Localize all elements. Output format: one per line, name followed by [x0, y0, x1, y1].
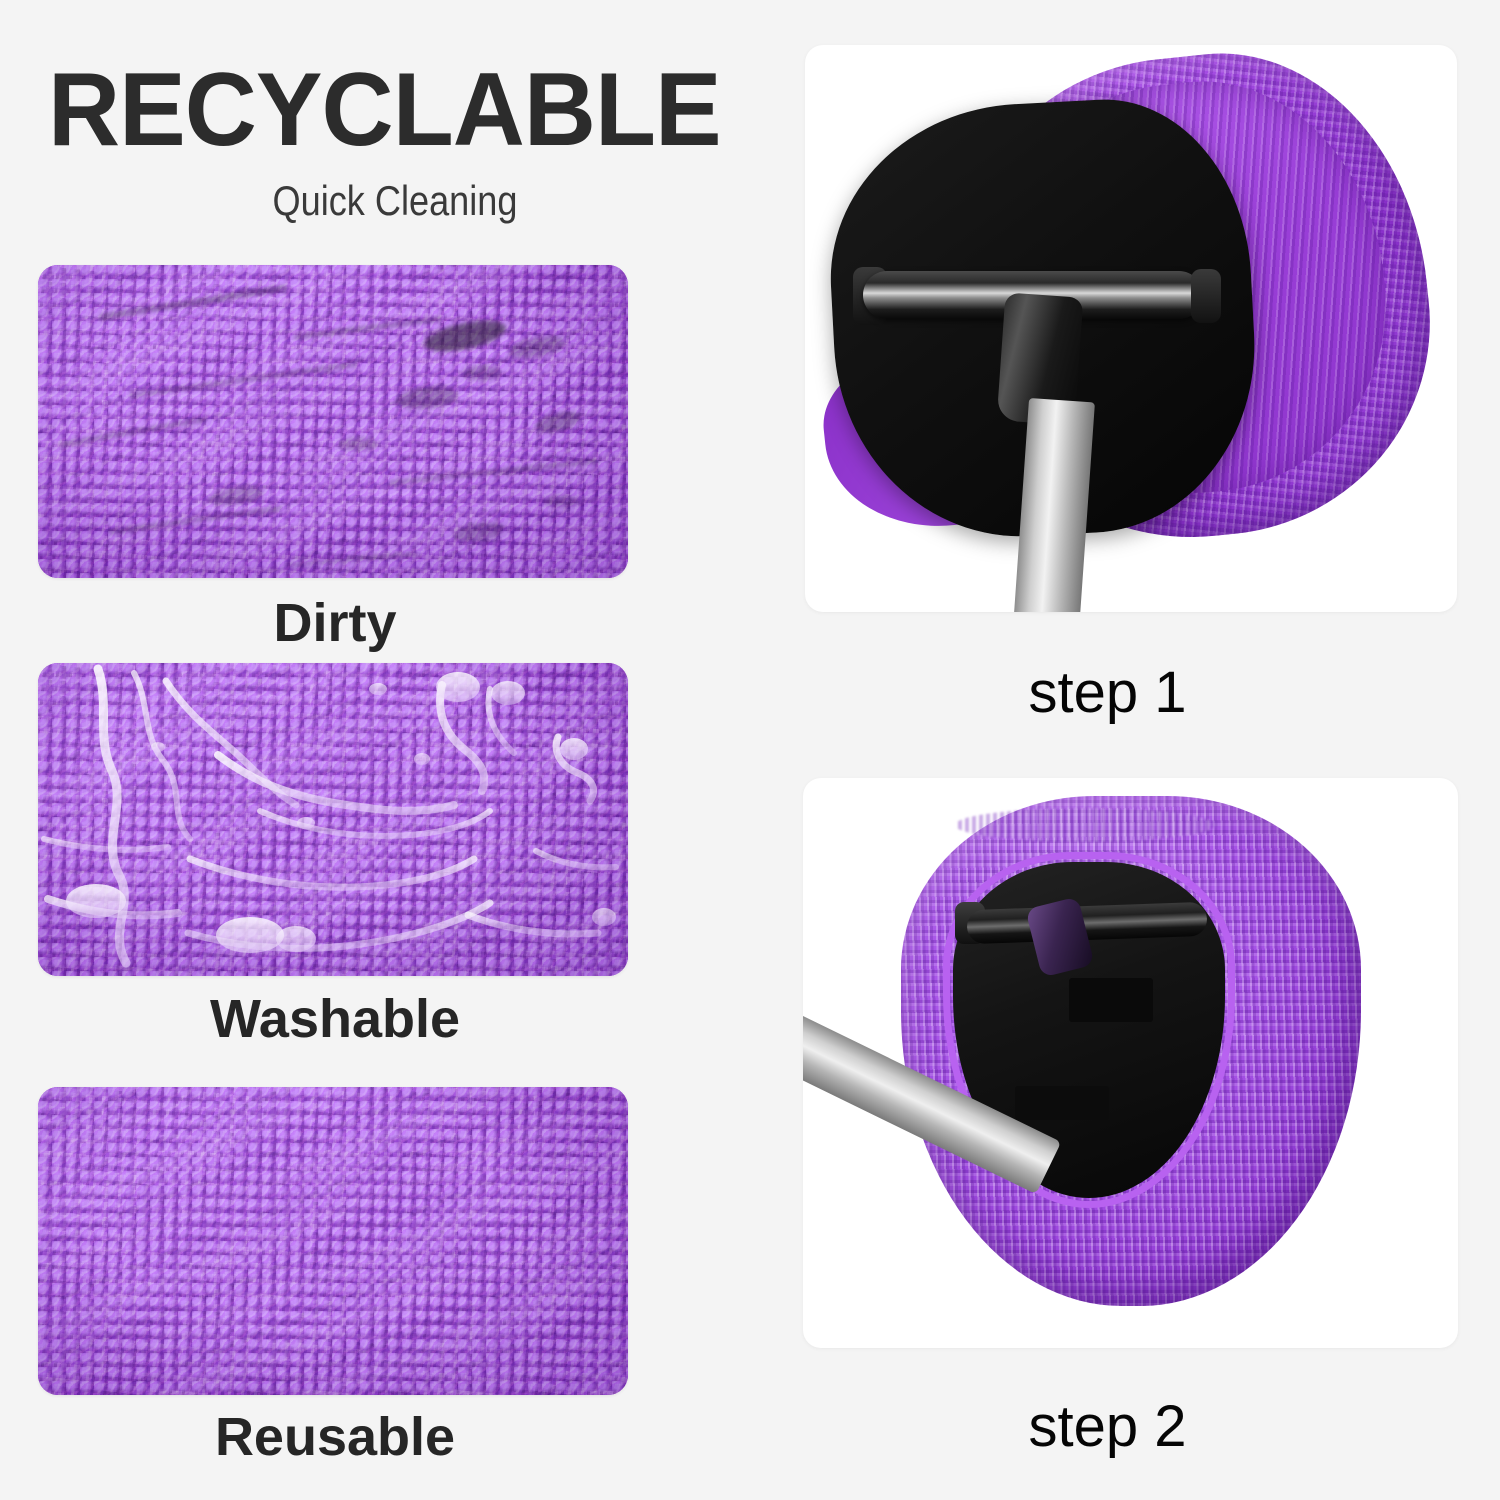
step-2-photo-card — [803, 778, 1458, 1348]
microfiber-swatch-reusable — [38, 1087, 628, 1395]
cover-elastic-seam — [955, 808, 1215, 842]
bar-end-cap-right — [1191, 269, 1221, 323]
swatch-vignette — [38, 663, 628, 976]
swatch-vignette — [38, 1087, 628, 1395]
microfiber-swatch-dirty — [38, 265, 628, 578]
step-1-photo-card — [805, 45, 1457, 612]
velcro-patch-lower — [1015, 1086, 1109, 1120]
page-subtitle: Quick Cleaning — [55, 178, 734, 224]
caption-washable: Washable — [0, 990, 670, 1048]
microfiber-swatch-washable — [38, 663, 628, 976]
caption-reusable: Reusable — [0, 1408, 670, 1466]
page-title: RECYCLABLE — [48, 58, 721, 162]
infographic-page: RECYCLABLE Quick Cleaning Dirty — [0, 0, 1500, 1500]
caption-dirty: Dirty — [0, 594, 670, 652]
step-2-label: step 2 — [780, 1396, 1435, 1458]
velcro-patch-upper — [1069, 978, 1153, 1022]
step-1-label: step 1 — [780, 662, 1435, 724]
